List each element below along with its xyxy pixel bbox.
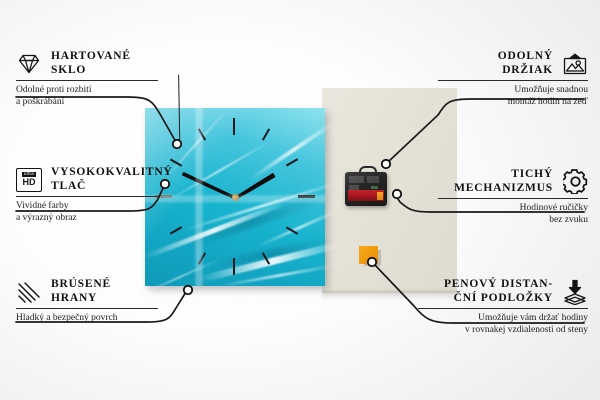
picture-hanger-icon	[562, 51, 588, 77]
feature-title: VYSOKOKVALITNÝTLAČ	[51, 166, 173, 193]
wire-endpoint-foam	[368, 258, 376, 266]
feature-hq-print: ultra HD VYSOKOKVALITNÝTLAČ Vividné farb…	[16, 166, 158, 224]
feature-divider	[16, 196, 158, 197]
wire-holder	[388, 99, 584, 162]
feature-wall-holder: ODOLNÝDRŽIAK Umožňuje snadnou montáž hod…	[438, 50, 588, 108]
feature-header: PENOVÝ DISTAN-ČNÍ PODLOŽKY	[418, 278, 588, 305]
feature-divider	[438, 80, 588, 81]
wire-endpoint-edges	[184, 286, 192, 294]
feature-title: HARTOVANÉSKLO	[51, 50, 131, 77]
feature-divider	[16, 308, 158, 309]
feature-description: Vividné farby a výrazný obraz	[16, 201, 158, 224]
feature-title: PENOVÝ DISTAN-ČNÍ PODLOŽKY	[444, 278, 553, 305]
ultra-hd-icon: ultra HD	[16, 167, 42, 193]
feature-description: Odolné proti rozbití a poškrábání	[16, 85, 158, 108]
feature-header: ultra HD VYSOKOKVALITNÝTLAČ	[16, 166, 158, 193]
feature-silent-mechanism: TICHÝMECHANIZMUS Hodinové ručičky bez zv…	[438, 168, 588, 226]
feature-title: BRÚSENÉHRANY	[51, 278, 111, 305]
feature-divider	[16, 80, 158, 81]
diamond-icon	[16, 51, 42, 77]
feature-description: Hladký a bezpečný povrch	[16, 313, 158, 325]
feature-header: TICHÝMECHANIZMUS	[438, 168, 588, 195]
feature-description: Hodinové ručičky bez zvuku	[438, 203, 588, 226]
feature-description: Umožňuje snadnou montáž hodin na zeď	[438, 85, 588, 108]
infographic-canvas: HARTOVANÉSKLO Odolné proti rozbití a poš…	[0, 0, 600, 400]
wire-endpoint-holder	[382, 160, 390, 168]
gear-icon	[562, 169, 588, 195]
feature-description: Umožňuje vám držať hodiny v rovnakej vzd…	[418, 313, 588, 336]
feature-divider	[438, 198, 588, 199]
feature-header: ODOLNÝDRŽIAK	[438, 50, 588, 77]
wire-endpoint-glass	[173, 140, 181, 148]
feature-header: BRÚSENÉHRANY	[16, 278, 158, 305]
feature-polished-edges: BRÚSENÉHRANY Hladký a bezpečný povrch	[16, 278, 158, 325]
feature-title: TICHÝMECHANIZMUS	[454, 168, 553, 195]
ultra-hd-badge-large: HD	[23, 178, 36, 187]
feature-tempered-glass: HARTOVANÉSKLO Odolné proti rozbití a poš…	[16, 50, 158, 108]
wire-endpoint-mechanism	[393, 190, 401, 198]
feature-divider	[418, 308, 588, 309]
polished-edges-icon	[16, 279, 42, 305]
feature-foam-spacers: PENOVÝ DISTAN-ČNÍ PODLOŽKY Umožňuje vám …	[418, 278, 588, 336]
stacked-pads-arrow-icon	[562, 279, 588, 305]
feature-title: ODOLNÝDRŽIAK	[498, 50, 553, 77]
feature-header: HARTOVANÉSKLO	[16, 50, 158, 77]
